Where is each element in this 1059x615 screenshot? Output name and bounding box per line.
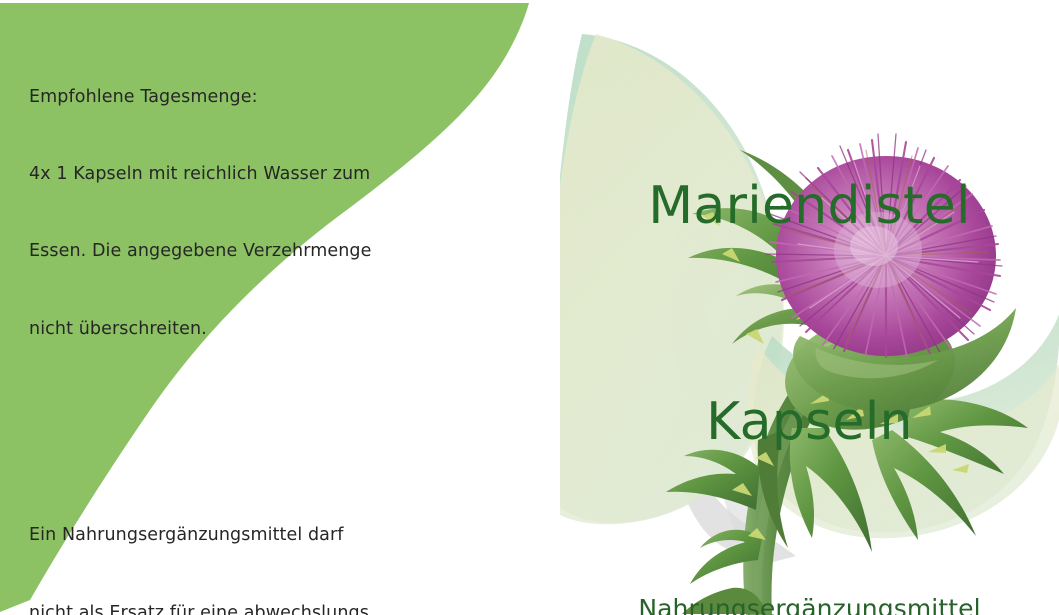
product-subtitle: Nahrungsergänzungsmittel Complement alim…	[560, 536, 1059, 615]
dosage-heading: Empfohlene Tagesmenge:	[29, 85, 459, 111]
dosage-line-1: 4x 1 Kapseln mit reichlich Wasser zum	[29, 162, 459, 188]
product-artwork	[560, 0, 1059, 615]
disclaimer-line-2: nicht als Ersatz für eine abwechslungs	[29, 601, 459, 615]
disclaimer-line-1: Ein Nahrungsergänzungsmittel darf	[29, 523, 459, 549]
dosage-line-3: nicht überschreiten.	[29, 317, 459, 343]
product-subtitle-line-1: Nahrungsergänzungsmittel	[560, 594, 1059, 615]
spacer-after-dosage	[29, 420, 459, 446]
product-label: Empfohlene Tagesmenge: 4x 1 Kapseln mit …	[0, 0, 1059, 615]
top-edge-strip	[0, 0, 1059, 3]
left-text-column: Empfohlene Tagesmenge: 4x 1 Kapseln mit …	[29, 33, 459, 615]
dosage-line-2: Essen. Die angegebene Verzehrmenge	[29, 239, 459, 265]
leaf-shape-cream-left	[560, 34, 784, 524]
